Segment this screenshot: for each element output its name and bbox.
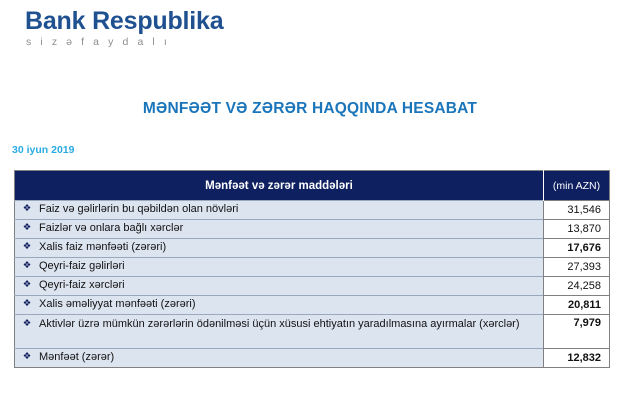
row-value-cell: 20,811 [544, 296, 610, 315]
profit-loss-table: Mənfəət və zərər maddələri (min AZN) ❖Fa… [14, 170, 610, 368]
row-label-text: Aktivlər üzrə mümkün zərərlərin ödənilmə… [39, 317, 520, 332]
row-label-text: Faizlər və onlara bağlı xərclər [39, 221, 183, 236]
brand-name: Bank Respublika [25, 9, 223, 34]
table-row: ❖Faiz və gəlirlərin bu qəbildən olan növ… [15, 201, 610, 220]
row-label-text: Xalis əməliyyat mənfəəti (zərəri) [39, 297, 196, 312]
diamond-bullet-icon: ❖ [15, 240, 39, 253]
report-date: 30 iyun 2019 [12, 145, 74, 156]
page-title: MƏNFƏƏT VƏ ZƏRƏR HAQQINDA HESABAT [0, 101, 620, 117]
table-row: ❖Xalis faiz mənfəəti (zərəri)17,676 [15, 239, 610, 258]
row-label-text: Mənfəət (zərər) [39, 350, 114, 365]
row-label-cell: ❖Qeyri-faiz gəlirləri [15, 258, 544, 277]
table-head: Mənfəət və zərər maddələri (min AZN) [15, 171, 610, 201]
diamond-bullet-icon: ❖ [15, 278, 39, 291]
diamond-bullet-icon: ❖ [15, 221, 39, 234]
brand-tagline: s i z ə f a y d a l ı [26, 37, 170, 48]
column-header-item: Mənfəət və zərər maddələri [15, 171, 544, 201]
diamond-bullet-icon: ❖ [15, 259, 39, 272]
row-label-text: Xalis faiz mənfəəti (zərəri) [39, 240, 166, 255]
row-label-cell: ❖Faizlər və onlara bağlı xərclər [15, 220, 544, 239]
row-label-cell: ❖Mənfəət (zərər) [15, 349, 544, 368]
diamond-bullet-icon: ❖ [15, 202, 39, 215]
row-value-cell: 7,979 [544, 315, 610, 349]
row-label-text: Qeyri-faiz gəlirləri [39, 259, 125, 274]
table-header-row: Mənfəət və zərər maddələri (min AZN) [15, 171, 610, 201]
table-row: ❖Aktivlər üzrə mümkün zərərlərin ödənilm… [15, 315, 610, 349]
row-value-cell: 12,832 [544, 349, 610, 368]
table-row: ❖Qeyri-faiz gəlirləri27,393 [15, 258, 610, 277]
row-label-cell: ❖Qeyri-faiz xərcləri [15, 277, 544, 296]
row-value-cell: 17,676 [544, 239, 610, 258]
diamond-bullet-icon: ❖ [15, 297, 39, 310]
row-label-text: Faiz və gəlirlərin bu qəbildən olan növl… [39, 202, 238, 217]
row-value-cell: 13,870 [544, 220, 610, 239]
table-row: ❖Faizlər və onlara bağlı xərclər13,870 [15, 220, 610, 239]
table-row: ❖Xalis əməliyyat mənfəəti (zərəri)20,811 [15, 296, 610, 315]
table-body: ❖Faiz və gəlirlərin bu qəbildən olan növ… [15, 201, 610, 368]
brand-header: Bank Respublika s i z ə f a y d a l ı [0, 0, 620, 62]
row-label-text: Qeyri-faiz xərcləri [39, 278, 125, 293]
table-row: ❖Qeyri-faiz xərcləri24,258 [15, 277, 610, 296]
row-label-cell: ❖Xalis əməliyyat mənfəəti (zərəri) [15, 296, 544, 315]
row-label-cell: ❖Faiz və gəlirlərin bu qəbildən olan növ… [15, 201, 544, 220]
row-value-cell: 24,258 [544, 277, 610, 296]
row-label-cell: ❖Xalis faiz mənfəəti (zərəri) [15, 239, 544, 258]
row-value-cell: 27,393 [544, 258, 610, 277]
diamond-bullet-icon: ❖ [15, 317, 39, 330]
table-row: ❖Mənfəət (zərər)12,832 [15, 349, 610, 368]
diamond-bullet-icon: ❖ [15, 350, 39, 363]
row-label-cell: ❖Aktivlər üzrə mümkün zərərlərin ödənilm… [15, 315, 544, 349]
column-header-unit: (min AZN) [544, 171, 610, 201]
row-value-cell: 31,546 [544, 201, 610, 220]
